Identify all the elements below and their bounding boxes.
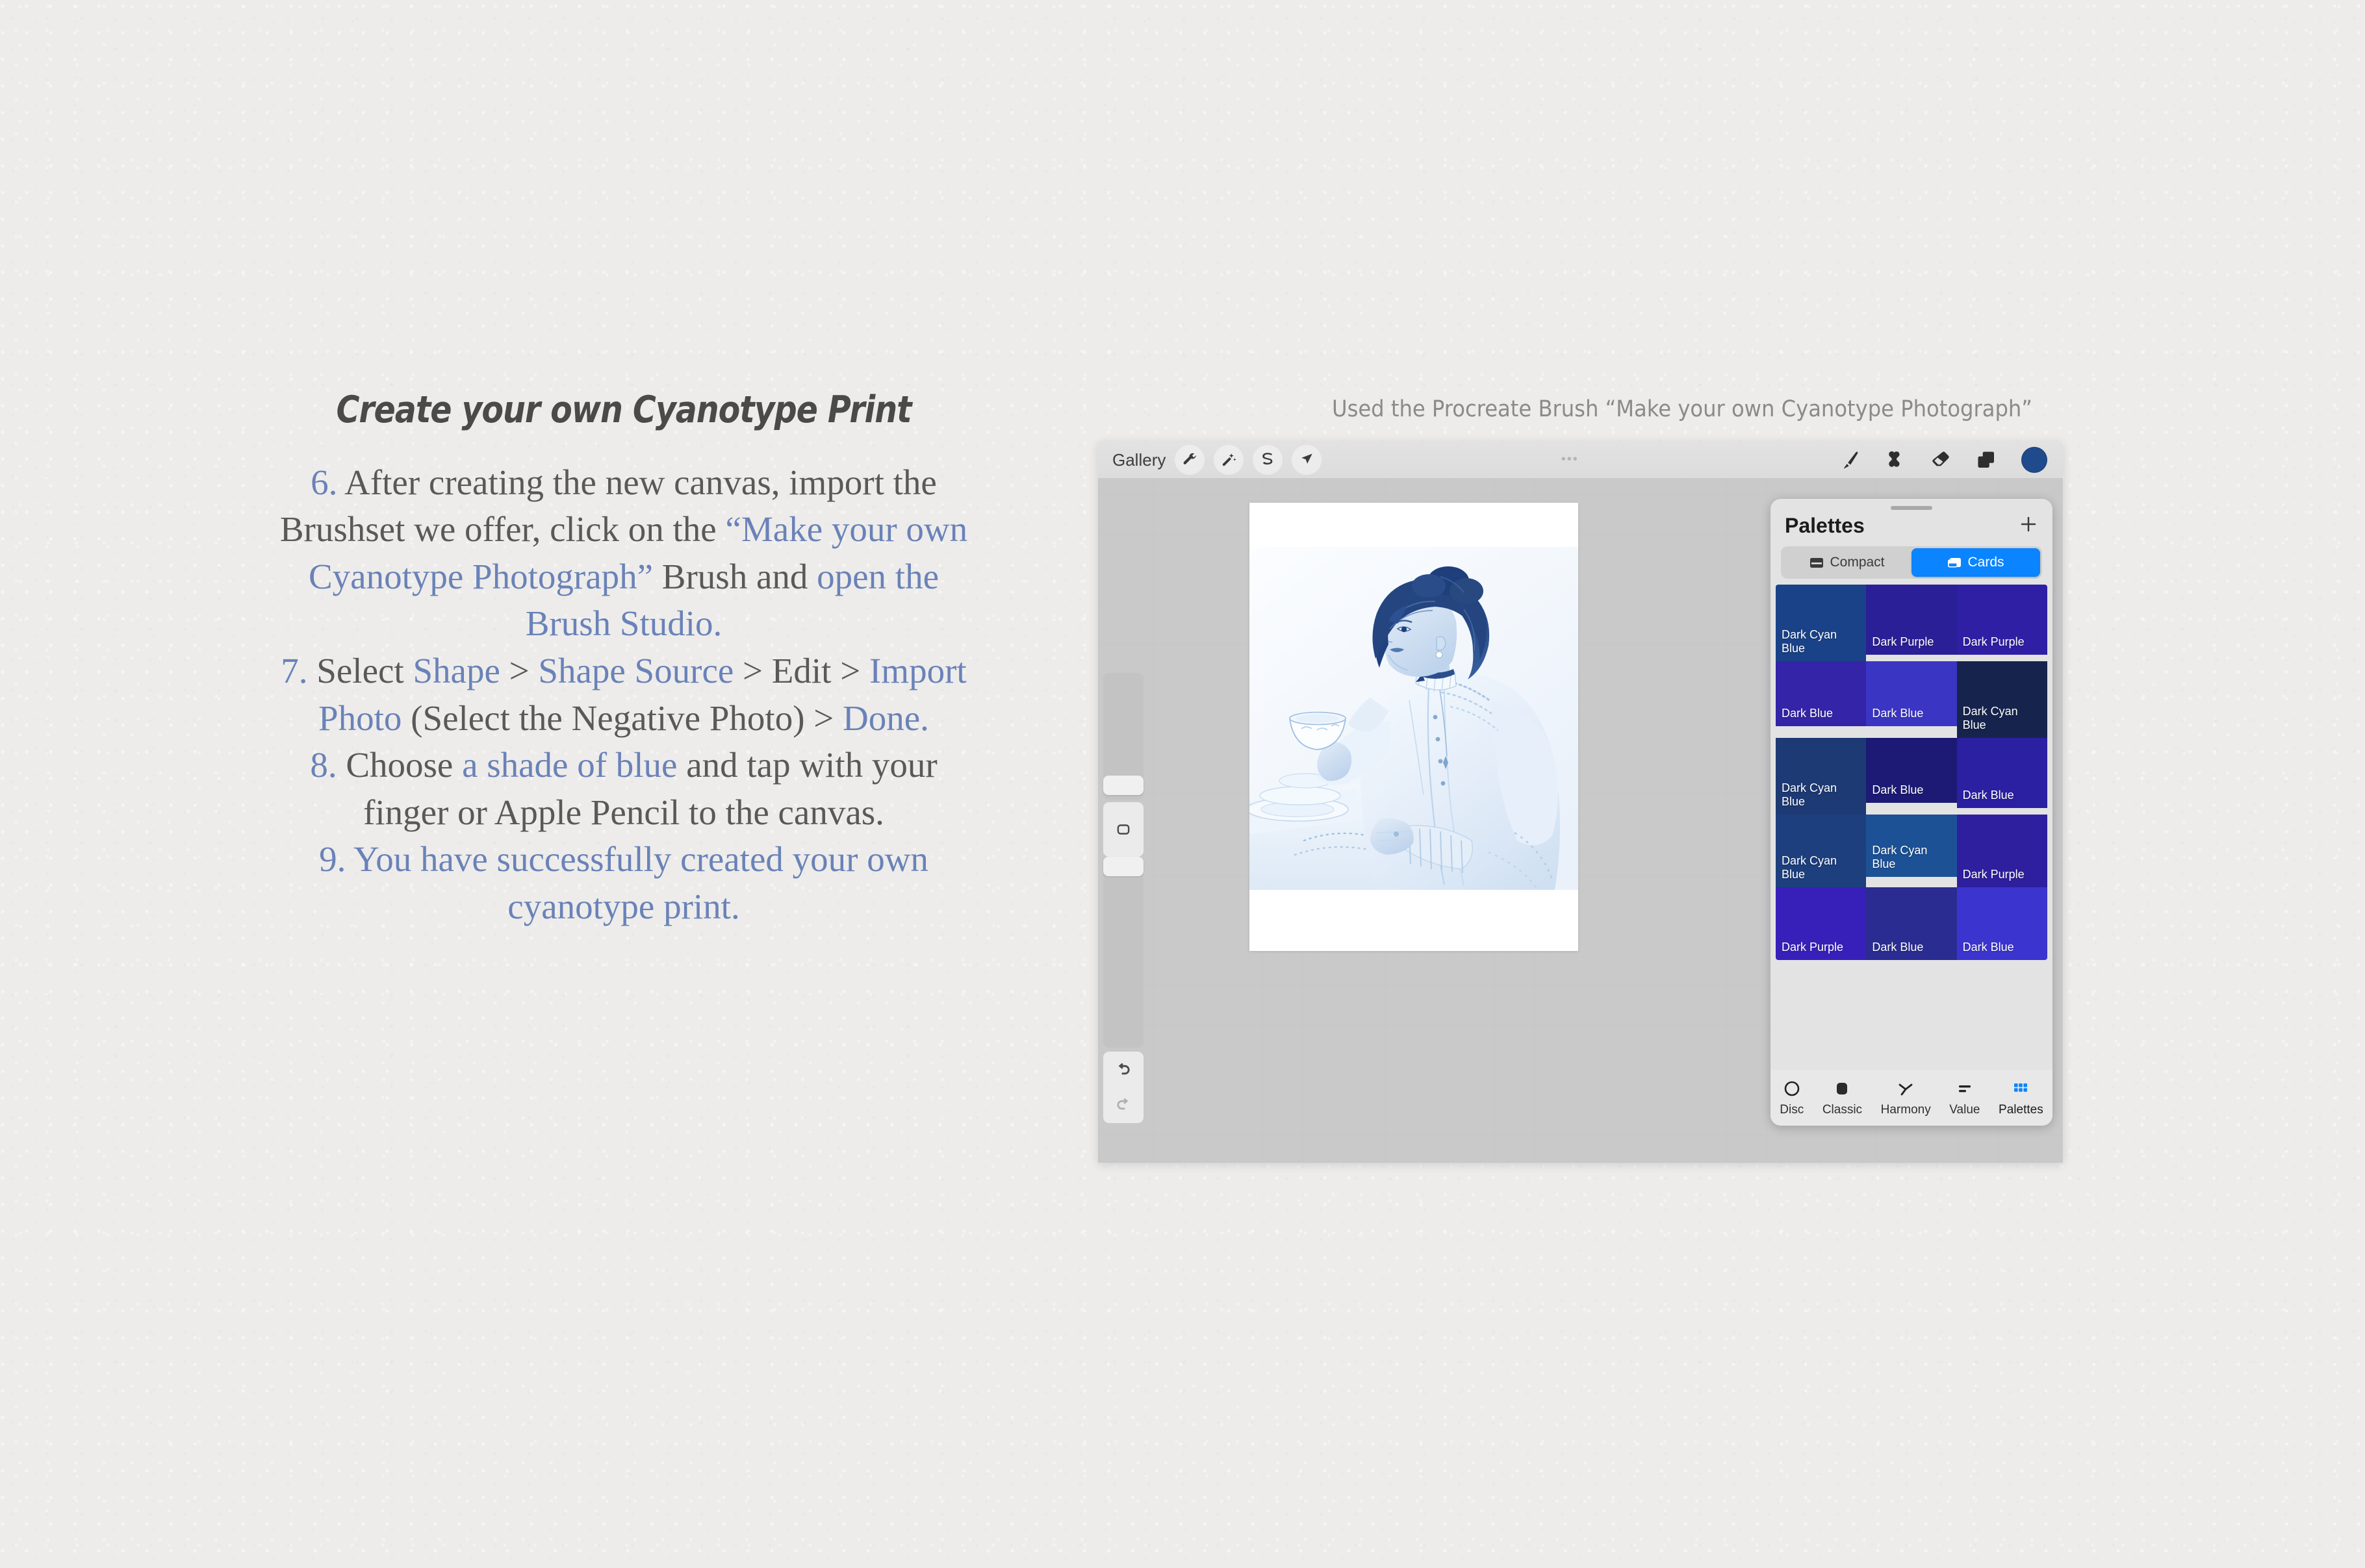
procreate-toolbar: Gallery ••• — [1098, 442, 2063, 478]
gallery-button[interactable]: Gallery — [1112, 450, 1166, 470]
color-mode-label: Classic — [1822, 1103, 1862, 1117]
color-swatch[interactable]: Dark Blue — [1957, 738, 2047, 808]
current-color-swatch[interactable] — [2021, 447, 2047, 473]
undo-icon[interactable] — [1114, 1061, 1132, 1079]
color-swatch[interactable]: Dark Cyan Blue — [1866, 815, 1956, 877]
color-swatch-label: Dark Blue — [1872, 707, 1952, 720]
classic-icon — [1832, 1079, 1852, 1098]
smudge-icon[interactable] — [1885, 449, 1906, 470]
color-mode-label: Harmony — [1881, 1103, 1931, 1117]
segment-compact[interactable]: Compact — [1783, 548, 1911, 577]
step-number: 7. — [281, 651, 307, 690]
brush-sidebar — [1103, 673, 1144, 1123]
color-mode-disc[interactable]: Disc — [1780, 1079, 1804, 1117]
color-swatch[interactable]: Dark Purple — [1776, 887, 1866, 960]
disc-icon — [1782, 1079, 1802, 1098]
layers-icon[interactable] — [1976, 449, 1997, 470]
eraser-icon[interactable] — [1930, 449, 1951, 470]
transform-arrow-icon[interactable] — [1292, 445, 1322, 475]
color-swatch-label: Dark Cyan Blue — [1782, 854, 1862, 881]
color-swatch-label: Dark Blue — [1963, 789, 2043, 802]
color-mode-palettes[interactable]: Palettes — [1999, 1079, 2043, 1117]
segment-cards[interactable]: Cards — [1911, 548, 2040, 577]
step-text-segment: (Select the Negative Photo) > — [402, 698, 843, 738]
color-swatch-label: Dark Blue — [1963, 941, 2043, 954]
step-text-segment: Choose — [337, 745, 463, 785]
color-swatch-label: Dark Cyan Blue — [1872, 844, 1952, 871]
brush-size-slider[interactable] — [1103, 673, 1144, 800]
color-swatch-label: Dark Purple — [1963, 635, 2043, 649]
step-paragraph: 7. Select Shape > Shape Source > Edit > … — [279, 648, 968, 742]
panel-caret — [1993, 499, 2015, 499]
color-swatch[interactable]: Dark Blue — [1866, 661, 1956, 726]
modify-square-icon[interactable] — [1103, 802, 1144, 857]
value-icon — [1955, 1079, 1975, 1098]
color-swatch[interactable]: Dark Cyan Blue — [1776, 738, 1866, 815]
color-swatch-label: Dark Cyan Blue — [1782, 628, 1862, 655]
color-swatch[interactable]: Dark Cyan Blue — [1776, 585, 1866, 661]
palette-view-segmented-control[interactable]: Compact Cards — [1781, 546, 2042, 579]
color-swatch[interactable]: Dark Blue — [1957, 887, 2047, 960]
steps-list: 6. After creating the new canvas, import… — [279, 459, 968, 931]
step-paragraph: 8. Choose a shade of blue and tap with y… — [279, 742, 968, 836]
color-swatch-grid[interactable]: Dark Cyan BlueDark PurpleDark PurpleDark… — [1776, 585, 2047, 960]
step-text-segment: Done. — [843, 698, 929, 738]
color-swatch[interactable]: Dark Cyan Blue — [1957, 661, 2047, 738]
color-mode-classic[interactable]: Classic — [1822, 1079, 1862, 1117]
color-swatch-label: Dark Cyan Blue — [1963, 705, 2043, 732]
add-palette-button[interactable] — [2019, 514, 2038, 537]
palettes-panel-title: Palettes — [1785, 514, 1865, 538]
wrench-icon[interactable] — [1175, 445, 1205, 475]
cards-icon — [1947, 557, 1962, 568]
color-swatch[interactable]: Dark Cyan Blue — [1776, 815, 1866, 887]
selection-s-icon[interactable] — [1253, 445, 1283, 475]
color-swatch[interactable]: Dark Blue — [1866, 738, 1956, 803]
step-number: 6. — [311, 462, 337, 502]
brush-opacity-slider[interactable] — [1103, 859, 1144, 1048]
step-text-segment: Brush and — [653, 557, 817, 596]
step-text-segment: > Edit > — [734, 651, 869, 690]
screenshot-caption: Used the Procreate Brush “Make your own … — [1332, 396, 2032, 422]
color-swatch[interactable]: Dark Blue — [1866, 887, 1956, 960]
color-mode-label: Palettes — [1999, 1103, 2043, 1117]
segment-compact-label: Compact — [1830, 555, 1884, 570]
page-title: Create your own Cyanotype Print — [327, 390, 920, 431]
brush-opacity-knob[interactable] — [1103, 857, 1144, 876]
canvas-area: Palettes Compact Cards Dark Cyan BlueDar… — [1098, 478, 2063, 1163]
color-swatch[interactable]: Dark Purple — [1957, 815, 2047, 887]
redo-icon[interactable] — [1114, 1096, 1132, 1114]
color-swatch[interactable]: Dark Purple — [1866, 585, 1956, 655]
color-swatch-label: Dark Purple — [1963, 868, 2043, 881]
step-paragraph: 9. You have successfully created your ow… — [279, 836, 968, 930]
step-text-segment: Shape Source — [538, 651, 734, 690]
undo-redo-group — [1103, 1052, 1144, 1123]
procreate-screenshot: Gallery ••• — [1098, 442, 2063, 1163]
toolbar-dots: ••• — [1561, 452, 1579, 467]
color-mode-label: Value — [1949, 1103, 1980, 1117]
color-swatch-label: Dark Cyan Blue — [1782, 781, 1862, 809]
palettes-panel: Palettes Compact Cards Dark Cyan BlueDar… — [1771, 499, 2052, 1126]
instructions-column: Create your own Cyanotype Print 6. After… — [279, 390, 968, 931]
paintbrush-icon[interactable] — [1839, 449, 1860, 470]
magic-wand-icon[interactable] — [1214, 445, 1244, 475]
brush-size-knob[interactable] — [1103, 776, 1144, 795]
color-mode-label: Disc — [1780, 1103, 1804, 1117]
step-text-segment: Select — [308, 651, 413, 690]
palettes-grid-icon — [2011, 1079, 2030, 1098]
step-paragraph: 6. After creating the new canvas, import… — [279, 459, 968, 648]
step-text-segment: Shape — [413, 651, 500, 690]
step-text-segment: a shade of blue — [462, 745, 677, 785]
color-swatch-label: Dark Blue — [1782, 707, 1862, 720]
canvas-sheet[interactable] — [1249, 503, 1578, 951]
color-mode-harmony[interactable]: Harmony — [1881, 1079, 1931, 1117]
color-mode-value[interactable]: Value — [1949, 1079, 1980, 1117]
step-number: 8. — [310, 745, 337, 785]
segment-cards-label: Cards — [1967, 555, 2004, 570]
color-swatch[interactable]: Dark Blue — [1776, 661, 1866, 726]
step-text-segment: You have successfully created your own c… — [346, 839, 928, 926]
color-swatch-label: Dark Blue — [1872, 941, 1952, 954]
color-swatch-label: Dark Purple — [1782, 941, 1862, 954]
step-number: 9. — [319, 839, 346, 879]
color-swatch-label: Dark Purple — [1872, 635, 1952, 649]
cyanotype-photo — [1249, 547, 1578, 890]
color-swatch-label: Dark Blue — [1872, 783, 1952, 797]
color-mode-footer[interactable]: DiscClassicHarmonyValuePalettes — [1771, 1070, 2052, 1126]
compact-icon — [1809, 557, 1824, 568]
color-swatch[interactable]: Dark Purple — [1957, 585, 2047, 655]
harmony-icon — [1896, 1079, 1915, 1098]
step-text-segment: > — [500, 651, 539, 690]
